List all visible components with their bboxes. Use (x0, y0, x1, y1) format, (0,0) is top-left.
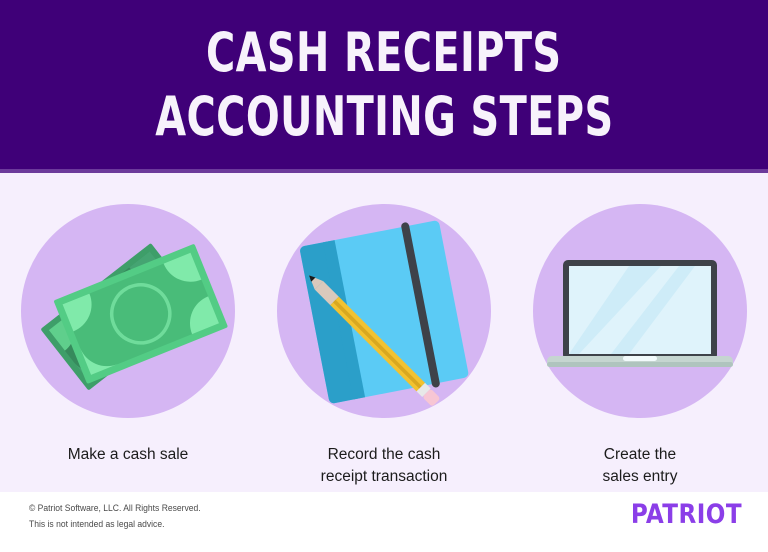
step-3-caption-line-2: sales entry (603, 466, 678, 488)
step-1-caption: Make a cash sale (68, 444, 189, 466)
footer-legal-text: © Patriot Software, LLC. All Rights Rese… (29, 500, 201, 532)
step-create-the-sales-entry: Create the sales entry (512, 173, 768, 492)
step-3-caption: Create the sales entry (603, 444, 678, 488)
footer-disclaimer: This is not intended as legal advice. (29, 516, 201, 532)
poster-footer: © Patriot Software, LLC. All Rights Rese… (0, 492, 768, 552)
step-2-caption-line-1: Record the cash (321, 444, 448, 466)
step-2-caption: Record the cash receipt transaction (321, 444, 448, 488)
laptop-icon (533, 204, 747, 418)
page-title-line-1: CASH RECEIPTS (206, 21, 562, 85)
infographic-poster: CASH RECEIPTS ACCOUNTING STEPS (0, 0, 768, 552)
step-2-caption-line-2: receipt transaction (321, 466, 448, 488)
step-1-caption-line-1: Make a cash sale (68, 444, 189, 466)
page-title-line-2: ACCOUNTING STEPS (155, 85, 613, 149)
patriot-logo: PATRIOT (631, 500, 742, 530)
step-make-a-cash-sale: Make a cash sale (0, 173, 256, 492)
cash-bills-icon (21, 204, 235, 418)
step-3-circle (533, 204, 747, 418)
step-2-circle (277, 204, 491, 418)
step-1-circle (21, 204, 235, 418)
step-3-caption-line-1: Create the (603, 444, 678, 466)
step-record-the-cash-receipt-transaction: Record the cash receipt transaction (256, 173, 512, 492)
notebook-pencil-icon (277, 204, 491, 418)
poster-header: CASH RECEIPTS ACCOUNTING STEPS (0, 0, 768, 169)
footer-copyright: © Patriot Software, LLC. All Rights Rese… (29, 500, 201, 516)
steps-row: Make a cash sale (0, 173, 768, 492)
